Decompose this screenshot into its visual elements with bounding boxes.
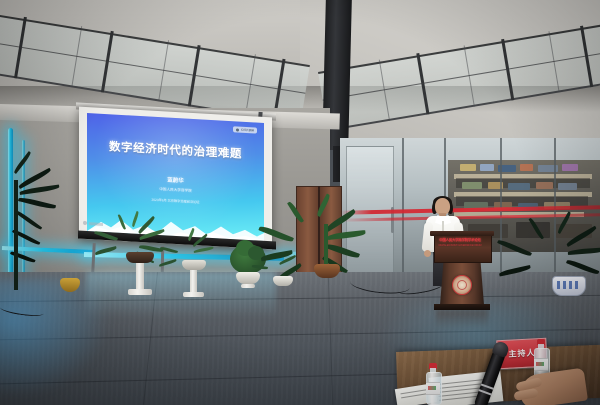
podium-top-surface [430, 231, 494, 236]
podium: 中国人民大学商学院学术论坛 DIGITAL ECONOMY GOVERNANCE… [432, 231, 492, 311]
plant-spider-pedestal-2 [176, 254, 216, 304]
screen-overlay-controls[interactable] [83, 221, 103, 226]
lecture-hall-photo: 数字经济时代的治理难题 蓝蔚华 中国人民大学商学院 2023年6月 北京数字治理… [0, 0, 600, 405]
overlay-bar-icon [89, 222, 103, 226]
overlay-dot-icon [83, 221, 87, 225]
plant-spider-pedestal-1 [118, 244, 164, 302]
bottle-label [534, 358, 548, 371]
plant-large-palm-center [300, 216, 360, 296]
plant-small-right [268, 262, 298, 302]
plant-dark-palm-left [0, 150, 64, 300]
presenter-toolbar-dot-icon [236, 128, 239, 131]
presenter-toolbar-label: 幻灯片放映 [241, 128, 254, 133]
podium-base [434, 304, 490, 310]
bottle-label [426, 382, 440, 395]
presenter-toolbar[interactable]: 幻灯片放映 [233, 126, 257, 133]
podium-banner-line2: DIGITAL ECONOMY GOVERNANCE FORUM [435, 244, 485, 247]
university-crest-icon [452, 275, 472, 295]
plant-dark-palm-right [536, 236, 600, 316]
presentation-slide: 数字经济时代的治理难题 蓝蔚华 中国人民大学商学院 2023年6月 北京数字治理… [87, 113, 264, 241]
podium-banner-line1: 中国人民大学商学院学术论坛 [435, 237, 485, 242]
speaker-hand-left [424, 250, 431, 257]
projection-screen: 数字经济时代的治理难题 蓝蔚华 中国人民大学商学院 2023年6月 北京数字治理… [79, 107, 272, 250]
podium-floor-reflection [436, 310, 488, 328]
water-bottle-left [426, 363, 440, 403]
pot-blue-white-ceramic [552, 276, 586, 296]
